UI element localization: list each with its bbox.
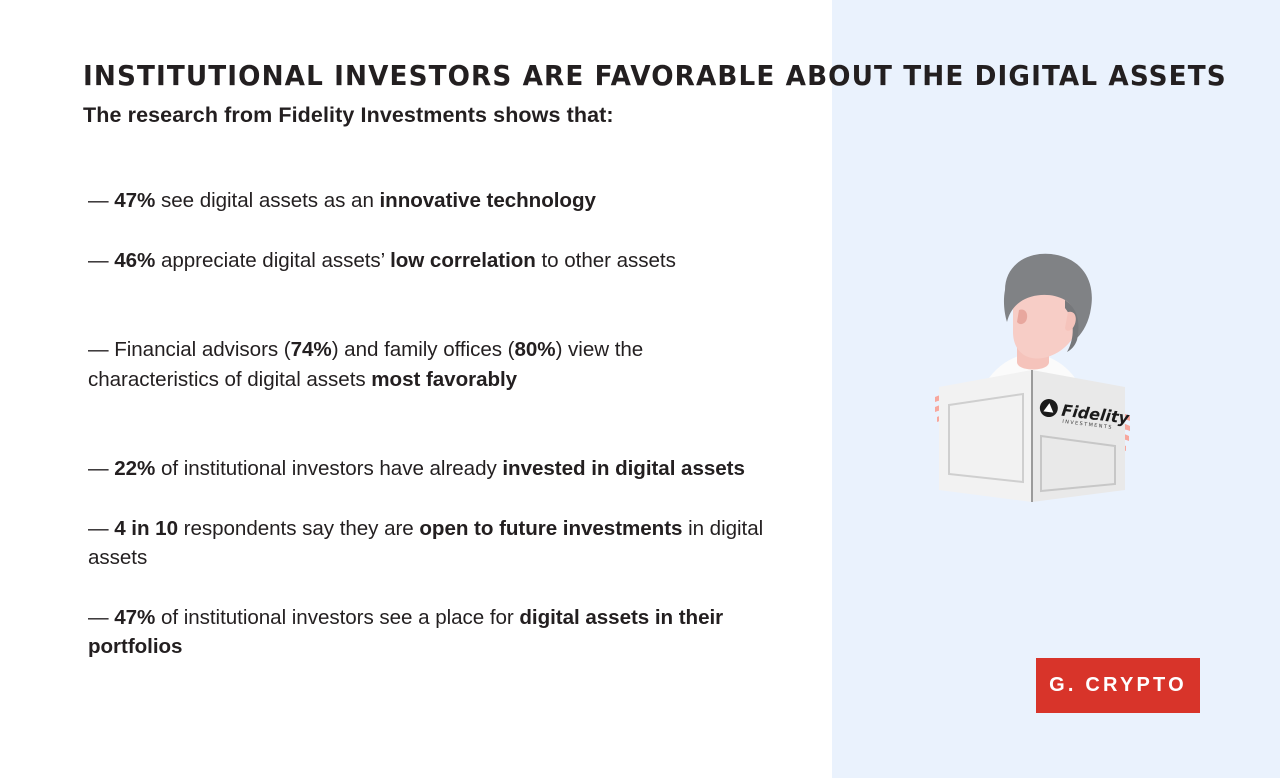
person-reading-newspaper-illustration: Fidelity INVESTMENTS: [925, 250, 1140, 515]
page-subtitle: The research from Fidelity Investments s…: [83, 101, 614, 129]
bullet-dash: —: [88, 606, 114, 629]
bullet-emphasis: 47%: [114, 189, 155, 212]
bullet-spacer: [88, 275, 768, 335]
bullet-emphasis: 74%: [291, 338, 332, 361]
bullet-item: — 22% of institutional investors have al…: [88, 454, 768, 484]
bullet-dash: —: [88, 189, 114, 212]
bullet-item: — Financial advisors (74%) and family of…: [88, 335, 768, 394]
bullet-spacer: [88, 394, 768, 454]
bullet-text: respondents say they are: [178, 517, 419, 540]
bullet-emphasis: 80%: [515, 338, 556, 361]
bullet-text: see digital assets as an: [155, 189, 379, 212]
bullet-emphasis: low correlation: [390, 249, 536, 272]
bullet-emphasis: invested in digital assets: [502, 457, 744, 480]
bullet-item: — 47% of institutional investors see a p…: [88, 603, 768, 662]
bullet-spacer: [88, 573, 768, 603]
bullet-emphasis: 4 in 10: [114, 517, 178, 540]
bullet-text: ) and family offices (: [332, 338, 515, 361]
page-title: INSTITUTIONAL INVESTORS ARE FAVORABLE AB…: [83, 61, 1124, 91]
bullet-emphasis: 47%: [114, 606, 155, 629]
bullet-text: of institutional investors have already: [155, 457, 502, 480]
bullet-emphasis: innovative technology: [380, 189, 596, 212]
bullet-dash: —: [88, 249, 114, 272]
bullet-dash: —: [88, 338, 114, 361]
bullet-text: appreciate digital assets’: [155, 249, 390, 272]
bullet-item: — 47% see digital assets as an innovativ…: [88, 186, 768, 216]
bullet-emphasis: 46%: [114, 249, 155, 272]
g-crypto-logo-badge: G. CRYPTO: [1036, 658, 1200, 713]
bullet-text: to other assets: [536, 249, 676, 272]
bullet-emphasis: 22%: [114, 457, 155, 480]
text-content-column: INSTITUTIONAL INVESTORS ARE FAVORABLE AB…: [83, 0, 783, 778]
bullet-emphasis: open to future investments: [419, 517, 682, 540]
bullet-spacer: [88, 484, 768, 514]
logo-text: G. CRYPTO: [1049, 674, 1187, 697]
bullet-text: Financial advisors (: [114, 338, 290, 361]
bullet-emphasis: most favorably: [371, 368, 517, 391]
bullet-dash: —: [88, 457, 114, 480]
bullet-list: — 47% see digital assets as an innovativ…: [88, 186, 768, 662]
bullet-item: — 4 in 10 respondents say they are open …: [88, 514, 768, 573]
bullet-item: — 46% appreciate digital assets’ low cor…: [88, 246, 768, 276]
bullet-dash: —: [88, 517, 114, 540]
infographic-slide: INSTITUTIONAL INVESTORS ARE FAVORABLE AB…: [0, 0, 1280, 778]
bullet-text: of institutional investors see a place f…: [155, 606, 519, 629]
bullet-spacer: [88, 216, 768, 246]
newspaper-fold-line: [1031, 370, 1033, 502]
